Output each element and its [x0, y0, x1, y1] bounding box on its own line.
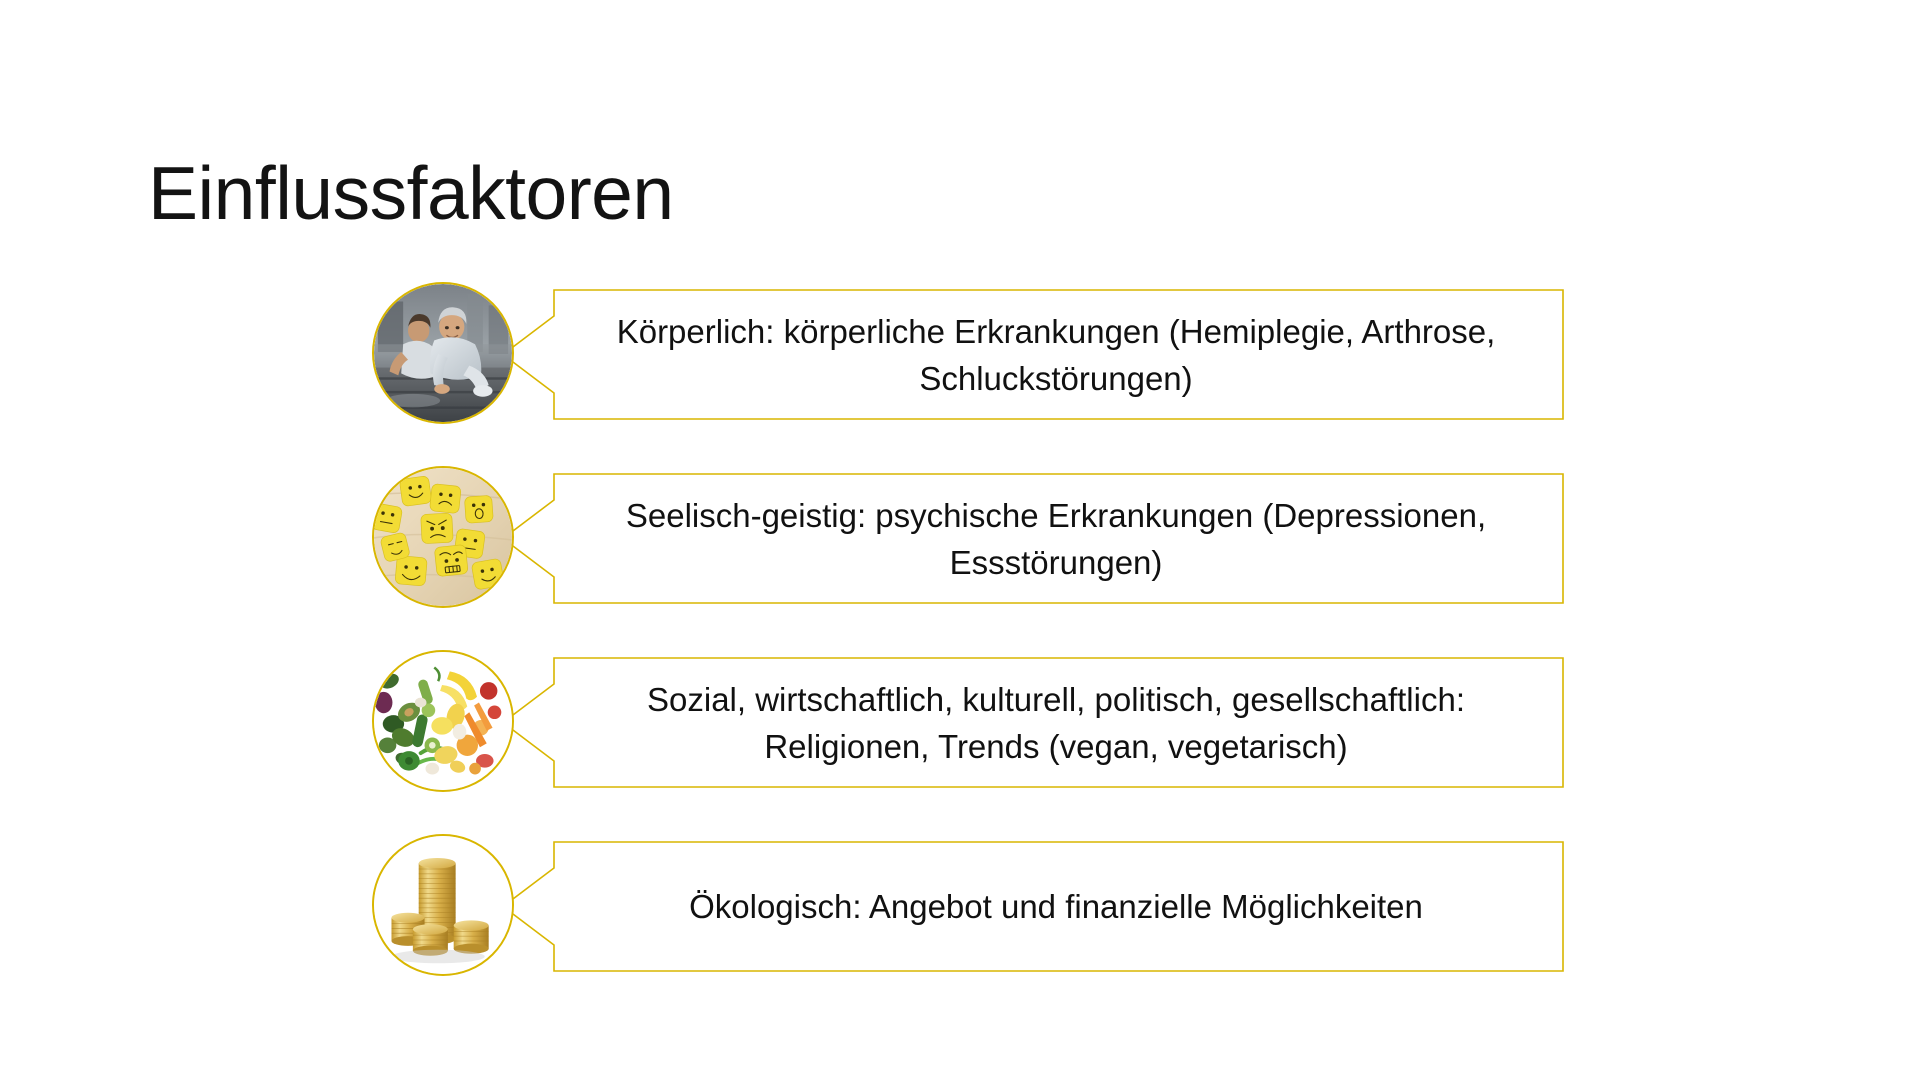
callout-box[interactable]: Ökologisch: Angebot und finanzielle Mögl… — [502, 841, 1564, 972]
factor-row[interactable]: Seelisch-geistig: psychische Erkrankunge… — [372, 466, 1564, 608]
slide-canvas: Einflussfaktoren — [0, 0, 1920, 1080]
callout-box[interactable]: Körperlich: körperliche Erkrankungen (He… — [502, 289, 1564, 420]
gym-exercise-photo — [372, 282, 514, 424]
factor-text: Ökologisch: Angebot und finanzielle Mögl… — [572, 841, 1540, 972]
factor-text: Sozial, wirtschaftlich, kulturell, polit… — [572, 657, 1540, 788]
factor-row[interactable]: Ökologisch: Angebot und finanzielle Mögl… — [372, 834, 1564, 976]
callout-box[interactable]: Seelisch-geistig: psychische Erkrankunge… — [502, 473, 1564, 604]
fruits-vegetables-photo — [372, 650, 514, 792]
factor-row[interactable]: Körperlich: körperliche Erkrankungen (He… — [372, 282, 1564, 424]
callout-box[interactable]: Sozial, wirtschaftlich, kulturell, polit… — [502, 657, 1564, 788]
factor-row[interactable]: Sozial, wirtschaftlich, kulturell, polit… — [372, 650, 1564, 792]
coin-stacks-photo — [372, 834, 514, 976]
emoji-dice-photo — [372, 466, 514, 608]
page-title: Einflussfaktoren — [148, 148, 674, 238]
factor-text: Körperlich: körperliche Erkrankungen (He… — [572, 289, 1540, 420]
factor-text: Seelisch-geistig: psychische Erkrankunge… — [572, 473, 1540, 604]
